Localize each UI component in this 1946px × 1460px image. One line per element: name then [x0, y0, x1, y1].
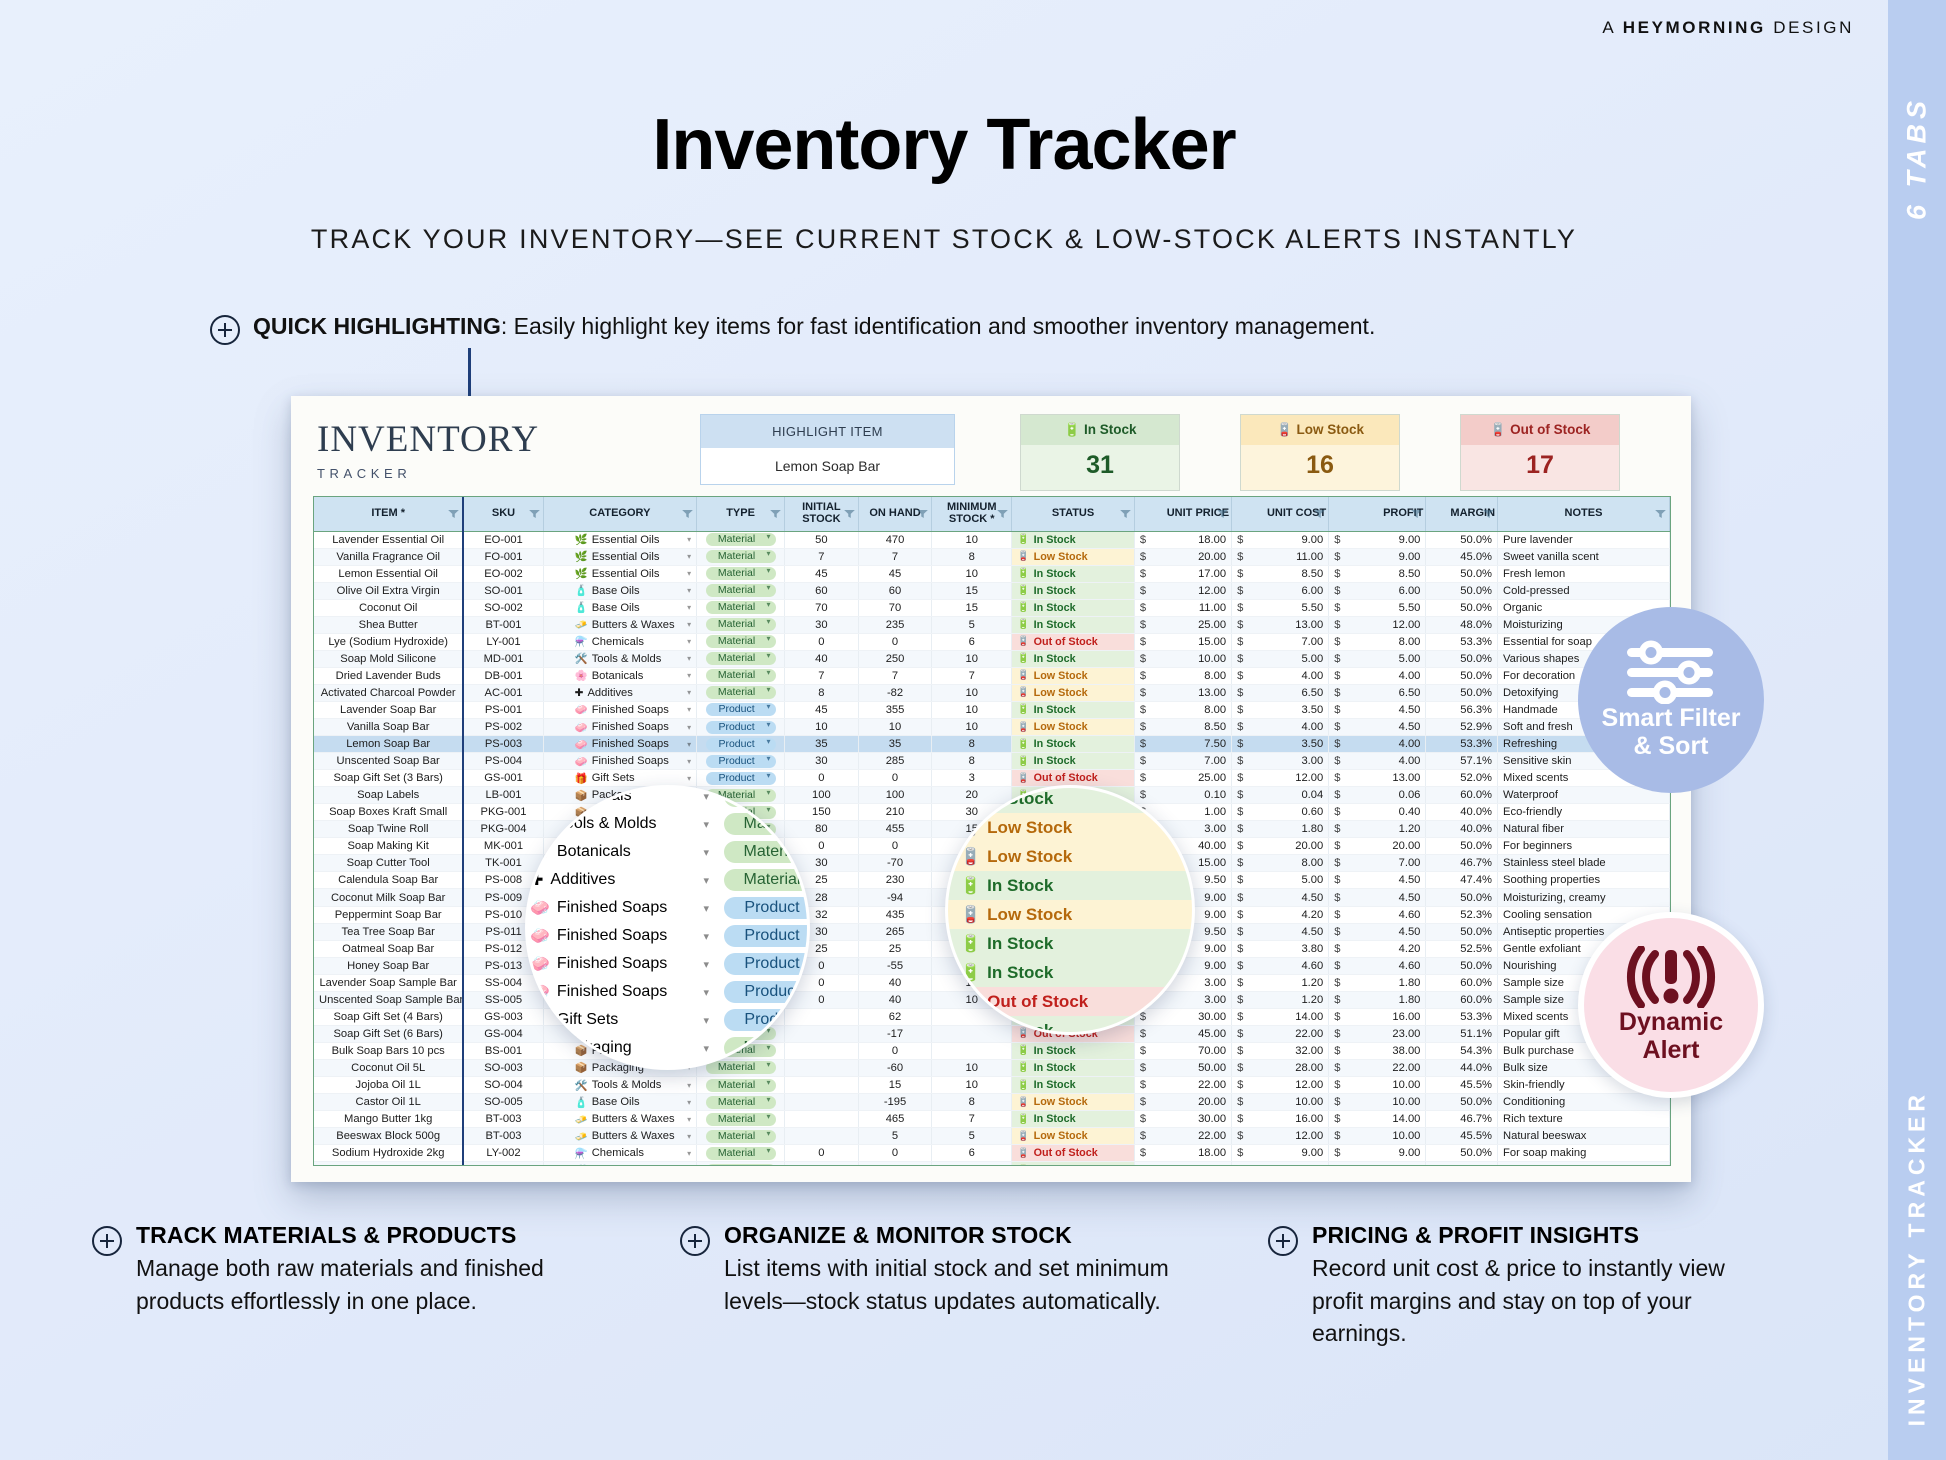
- cell-item[interactable]: Lavender Essential Oil: [314, 531, 463, 548]
- cell-on-hand[interactable]: 15: [858, 1077, 932, 1094]
- type-pill[interactable]: Material: [706, 601, 776, 614]
- cell-on-hand[interactable]: 40: [858, 974, 932, 991]
- cell-unit-cost[interactable]: $0.60: [1232, 804, 1329, 821]
- cell-category[interactable]: 🧼Finished Soaps▾: [543, 736, 696, 753]
- cell-margin[interactable]: 60.0%: [1426, 991, 1498, 1008]
- cell-unit-price[interactable]: $70.00: [1134, 1042, 1231, 1059]
- cell-initial-stock[interactable]: 0: [785, 633, 859, 650]
- cell-minimum-stock[interactable]: 6: [932, 633, 1012, 650]
- cell-type[interactable]: Material: [697, 548, 785, 565]
- type-pill[interactable]: Material: [706, 1147, 776, 1160]
- cell-unit-price[interactable]: $22.00: [1134, 1077, 1231, 1094]
- cell-margin[interactable]: 53.3%: [1426, 736, 1498, 753]
- cell-on-hand[interactable]: -94: [858, 889, 932, 906]
- cell-item[interactable]: Soap Gift Set (4 Bars): [314, 1008, 463, 1025]
- table-row[interactable]: Bulk Soap Bars 10 pcs BS-001 📦Packaging▾…: [314, 1042, 1670, 1059]
- cell-item[interactable]: Coconut Oil: [314, 599, 463, 616]
- cell-unit-cost[interactable]: $16.00: [1232, 1111, 1329, 1128]
- cell-margin[interactable]: 46.7%: [1426, 855, 1498, 872]
- table-row[interactable]: Jojoba Oil 1L SO-004 🛠️Tools & Molds▾ Ma…: [314, 1077, 1670, 1094]
- cell-profit[interactable]: $4.50: [1329, 923, 1426, 940]
- cell-margin[interactable]: 50.0%: [1426, 684, 1498, 701]
- cell-type[interactable]: Material: [697, 1162, 785, 1166]
- cell-on-hand[interactable]: 7: [858, 667, 932, 684]
- cell-type[interactable]: Material: [697, 1094, 785, 1111]
- chevron-down-icon[interactable]: ▾: [687, 688, 691, 697]
- cell-initial-stock[interactable]: 0: [785, 770, 859, 787]
- cell-initial-stock[interactable]: 30: [785, 616, 859, 633]
- cell-item[interactable]: Lavender Soap Sample Bar: [314, 974, 463, 991]
- cell-unit-cost[interactable]: $7.00: [1232, 633, 1329, 650]
- cell-notes[interactable]: Stainless steel blade: [1498, 855, 1670, 872]
- cell-item[interactable]: Lemon Essential Oil: [314, 565, 463, 582]
- col-header-profit[interactable]: PROFIT: [1329, 497, 1426, 531]
- cell-margin[interactable]: 50.0%: [1426, 1145, 1498, 1162]
- col-header-type[interactable]: TYPE: [697, 497, 785, 531]
- type-pill[interactable]: Material: [706, 1130, 776, 1143]
- type-pill[interactable]: Material: [706, 635, 776, 648]
- cell-type[interactable]: Material: [697, 531, 785, 548]
- cell-margin[interactable]: 50.0%: [1426, 599, 1498, 616]
- cell-on-hand[interactable]: 0: [858, 838, 932, 855]
- cell-profit[interactable]: $10.00: [1329, 1077, 1426, 1094]
- chevron-down-icon[interactable]: ▾: [687, 705, 691, 714]
- cell-unit-cost[interactable]: $6.50: [1232, 684, 1329, 701]
- cell-on-hand[interactable]: 25: [858, 940, 932, 957]
- type-pill[interactable]: Material: [706, 1096, 776, 1109]
- cell-profit[interactable]: $4.50: [1329, 701, 1426, 718]
- col-header-minimum-stock[interactable]: MINIMUM STOCK *: [932, 497, 1012, 531]
- table-row[interactable]: Dried Lavender Buds DB-001 🌸Botanicals▾ …: [314, 667, 1670, 684]
- cell-initial-stock[interactable]: 7: [785, 548, 859, 565]
- cell-item[interactable]: Unscented Soap Bar: [314, 753, 463, 770]
- cell-unit-price[interactable]: $30.00: [1134, 1111, 1231, 1128]
- cell-unit-cost[interactable]: $5.50: [1232, 599, 1329, 616]
- cell-minimum-stock[interactable]: 10: [932, 1162, 1012, 1166]
- cell-minimum-stock[interactable]: 10: [932, 719, 1012, 736]
- cell-category[interactable]: 🌸Botanicals▾: [543, 667, 696, 684]
- table-row[interactable]: Activated Charcoal Powder AC-001 ✚Additi…: [314, 684, 1670, 701]
- table-row[interactable]: Sodium Hydroxide 2kg LY-002 ⚗️Chemicals▾…: [314, 1145, 1670, 1162]
- cell-item[interactable]: Lavender Soap Bar: [314, 701, 463, 718]
- cell-sku[interactable]: EO-001: [463, 531, 543, 548]
- cell-profit[interactable]: $22.00: [1329, 1059, 1426, 1076]
- cell-margin[interactable]: 56.3%: [1426, 701, 1498, 718]
- cell-on-hand[interactable]: 62: [858, 1008, 932, 1025]
- col-header-margin[interactable]: MARGIN: [1426, 497, 1498, 531]
- col-header-initial-stock[interactable]: INITIAL STOCK: [785, 497, 859, 531]
- cell-sku[interactable]: PS-001: [463, 701, 543, 718]
- col-header-unit-price[interactable]: UNIT PRICE: [1134, 497, 1231, 531]
- cell-margin[interactable]: 40.0%: [1426, 804, 1498, 821]
- cell-margin[interactable]: 45.0%: [1426, 548, 1498, 565]
- cell-minimum-stock[interactable]: 7: [932, 1111, 1012, 1128]
- cell-type[interactable]: Material: [697, 1077, 785, 1094]
- cell-item[interactable]: Silicone Soap Mold Set: [314, 1162, 463, 1166]
- cell-profit[interactable]: $13.00: [1329, 770, 1426, 787]
- cell-type[interactable]: Material: [697, 684, 785, 701]
- cell-type[interactable]: Material: [697, 582, 785, 599]
- table-row[interactable]: Soap Mold Silicone MD-001 🛠️Tools & Mold…: [314, 650, 1670, 667]
- cell-profit[interactable]: $9.00: [1329, 1145, 1426, 1162]
- type-pill[interactable]: Material: [706, 669, 776, 682]
- cell-unit-cost[interactable]: $6.00: [1232, 582, 1329, 599]
- chevron-down-icon[interactable]: ▾: [687, 1081, 691, 1090]
- cell-item[interactable]: Soap Gift Set (3 Bars): [314, 770, 463, 787]
- cell-sku[interactable]: PS-003: [463, 736, 543, 753]
- chevron-down-icon[interactable]: ▾: [687, 723, 691, 732]
- cell-category[interactable]: 🧼Finished Soaps▾: [543, 719, 696, 736]
- cell-profit[interactable]: $20.00: [1329, 838, 1426, 855]
- cell-category[interactable]: 🧴Base Oils▾: [543, 582, 696, 599]
- cell-initial-stock[interactable]: [785, 1094, 859, 1111]
- cell-margin[interactable]: 60.0%: [1426, 974, 1498, 991]
- cell-profit[interactable]: $1.80: [1329, 991, 1426, 1008]
- cell-on-hand[interactable]: 0: [858, 633, 932, 650]
- cell-profit[interactable]: $0.06: [1329, 787, 1426, 804]
- cell-margin[interactable]: 50.0%: [1426, 889, 1498, 906]
- table-row[interactable]: Shea Butter BT-001 🧈Butters & Waxes▾ Mat…: [314, 616, 1670, 633]
- cell-sku[interactable]: MD-002: [463, 1162, 543, 1166]
- type-pill[interactable]: Product: [706, 755, 776, 768]
- cell-type[interactable]: Material: [697, 1145, 785, 1162]
- cell-category[interactable]: 🌿Essential Oils▾: [543, 548, 696, 565]
- cell-margin[interactable]: 46.7%: [1426, 1111, 1498, 1128]
- type-pill[interactable]: Material: [706, 652, 776, 665]
- table-row[interactable]: Unscented Soap Bar PS-004 🧼Finished Soap…: [314, 753, 1670, 770]
- cell-type[interactable]: Material: [697, 650, 785, 667]
- table-row[interactable]: Vanilla Fragrance Oil FO-001 🌿Essential …: [314, 548, 1670, 565]
- cell-type[interactable]: Product: [697, 770, 785, 787]
- cell-unit-cost[interactable]: $4.20: [1232, 906, 1329, 923]
- chevron-down-icon[interactable]: ▾: [687, 620, 691, 629]
- chevron-down-icon[interactable]: ▾: [687, 774, 691, 783]
- cell-unit-cost[interactable]: $10.00: [1232, 1094, 1329, 1111]
- cell-margin[interactable]: 40.0%: [1426, 821, 1498, 838]
- cell-item[interactable]: Vanilla Soap Bar: [314, 719, 463, 736]
- cell-category[interactable]: 🧼Finished Soaps▾: [543, 753, 696, 770]
- cell-unit-price[interactable]: $15.00: [1134, 1162, 1231, 1166]
- cell-margin[interactable]: 52.3%: [1426, 906, 1498, 923]
- cell-margin[interactable]: 52.0%: [1426, 770, 1498, 787]
- cell-unit-price[interactable]: $8.00: [1134, 701, 1231, 718]
- cell-category[interactable]: 🧈Butters & Waxes▾: [543, 616, 696, 633]
- col-header-item[interactable]: ITEM *: [314, 497, 463, 531]
- cell-unit-cost[interactable]: $20.00: [1232, 838, 1329, 855]
- cell-initial-stock[interactable]: 45: [785, 701, 859, 718]
- cell-category[interactable]: 🌿Essential Oils▾: [543, 531, 696, 548]
- cell-margin[interactable]: 52.9%: [1426, 719, 1498, 736]
- cell-unit-cost[interactable]: $8.00: [1232, 855, 1329, 872]
- cell-on-hand[interactable]: 210: [858, 804, 932, 821]
- cell-profit[interactable]: $0.40: [1329, 804, 1426, 821]
- cell-type[interactable]: Material: [697, 616, 785, 633]
- cell-minimum-stock[interactable]: 10: [932, 650, 1012, 667]
- cell-minimum-stock[interactable]: 10: [932, 565, 1012, 582]
- cell-on-hand[interactable]: 10: [858, 719, 932, 736]
- cell-category[interactable]: 🌿Essential Oils▾: [543, 565, 696, 582]
- cell-minimum-stock[interactable]: 8: [932, 753, 1012, 770]
- cell-profit[interactable]: $4.50: [1329, 719, 1426, 736]
- table-row[interactable]: Mango Butter 1kg BT-003 🧈Butters & Waxes…: [314, 1111, 1670, 1128]
- cell-unit-price[interactable]: $18.00: [1134, 531, 1231, 548]
- cell-minimum-stock[interactable]: 6: [932, 1145, 1012, 1162]
- cell-profit[interactable]: $14.00: [1329, 1111, 1426, 1128]
- chevron-down-icon[interactable]: ▾: [687, 671, 691, 680]
- cell-minimum-stock[interactable]: 8: [932, 548, 1012, 565]
- cell-minimum-stock[interactable]: 3: [932, 770, 1012, 787]
- type-pill[interactable]: Product: [706, 772, 776, 785]
- cell-sku[interactable]: SO-002: [463, 599, 543, 616]
- cell-unit-cost[interactable]: $11.00: [1232, 548, 1329, 565]
- cell-unit-cost[interactable]: $4.00: [1232, 667, 1329, 684]
- cell-initial-stock[interactable]: [785, 1128, 859, 1145]
- table-row[interactable]: Beeswax Block 500g BT-003 🧈Butters & Wax…: [314, 1128, 1670, 1145]
- cell-profit[interactable]: $4.60: [1329, 957, 1426, 974]
- cell-item[interactable]: Mango Butter 1kg: [314, 1111, 463, 1128]
- cell-type[interactable]: Material: [697, 633, 785, 650]
- cell-margin[interactable]: 50.0%: [1426, 838, 1498, 855]
- cell-item[interactable]: Soap Making Kit: [314, 838, 463, 855]
- cell-item[interactable]: Shea Butter: [314, 616, 463, 633]
- table-row[interactable]: Lye (Sodium Hydroxide) LY-001 ⚗️Chemical…: [314, 633, 1670, 650]
- table-row[interactable]: Vanilla Soap Bar PS-002 🧼Finished Soaps▾…: [314, 719, 1670, 736]
- cell-notes[interactable]: Rich texture: [1498, 1111, 1670, 1128]
- cell-unit-cost[interactable]: $3.00: [1232, 753, 1329, 770]
- type-pill[interactable]: Material: [706, 618, 776, 631]
- cell-unit-cost[interactable]: $9.00: [1232, 1145, 1329, 1162]
- cell-minimum-stock[interactable]: 10: [932, 684, 1012, 701]
- cell-profit[interactable]: $4.50: [1329, 872, 1426, 889]
- cell-on-hand[interactable]: 265: [858, 923, 932, 940]
- cell-unit-price[interactable]: $25.00: [1134, 770, 1231, 787]
- cell-type[interactable]: Material: [697, 1111, 785, 1128]
- cell-item[interactable]: Lemon Soap Bar: [314, 736, 463, 753]
- highlight-item-box[interactable]: HIGHLIGHT ITEM Lemon Soap Bar: [700, 414, 955, 485]
- cell-on-hand[interactable]: 285: [858, 753, 932, 770]
- cell-margin[interactable]: 51.1%: [1426, 1025, 1498, 1042]
- cell-margin[interactable]: 48.0%: [1426, 616, 1498, 633]
- chevron-down-icon[interactable]: ▾: [687, 637, 691, 646]
- chevron-down-icon[interactable]: ▾: [687, 569, 691, 578]
- cell-on-hand[interactable]: 20: [858, 1162, 932, 1166]
- cell-notes[interactable]: Eco-friendly: [1498, 804, 1670, 821]
- cell-item[interactable]: Coconut Oil 5L: [314, 1059, 463, 1076]
- cell-sku[interactable]: MD-001: [463, 650, 543, 667]
- cell-notes[interactable]: Soothing properties: [1498, 872, 1670, 889]
- cell-unit-price[interactable]: $22.00: [1134, 1128, 1231, 1145]
- cell-category[interactable]: ⚗️Chemicals▾: [543, 633, 696, 650]
- cell-item[interactable]: Dried Lavender Buds: [314, 667, 463, 684]
- col-header-notes[interactable]: NOTES: [1498, 497, 1670, 531]
- cell-unit-cost[interactable]: $14.00: [1232, 1008, 1329, 1025]
- cell-unit-cost[interactable]: $3.50: [1232, 701, 1329, 718]
- cell-profit[interactable]: $4.20: [1329, 940, 1426, 957]
- cell-item[interactable]: Activated Charcoal Powder: [314, 684, 463, 701]
- cell-category[interactable]: 🛠️Tools & Molds▾: [543, 1162, 696, 1166]
- cell-on-hand[interactable]: 470: [858, 531, 932, 548]
- cell-sku[interactable]: LY-002: [463, 1145, 543, 1162]
- cell-minimum-stock[interactable]: 10: [932, 531, 1012, 548]
- cell-unit-cost[interactable]: $0.04: [1232, 787, 1329, 804]
- cell-sku[interactable]: BT-001: [463, 616, 543, 633]
- type-pill[interactable]: Material: [706, 686, 776, 699]
- chevron-down-icon[interactable]: ▾: [687, 740, 691, 749]
- cell-notes[interactable]: Waterproof: [1498, 787, 1670, 804]
- cell-initial-stock[interactable]: 50: [785, 531, 859, 548]
- cell-unit-cost[interactable]: $3.50: [1232, 736, 1329, 753]
- cell-unit-cost[interactable]: $28.00: [1232, 1059, 1329, 1076]
- cell-unit-cost[interactable]: $22.00: [1232, 1025, 1329, 1042]
- cell-notes[interactable]: For soap making: [1498, 1145, 1670, 1162]
- cell-item[interactable]: Coconut Milk Soap Bar: [314, 889, 463, 906]
- cell-profit[interactable]: $12.00: [1329, 616, 1426, 633]
- cell-profit[interactable]: $7.00: [1329, 855, 1426, 872]
- cell-unit-cost[interactable]: $1.20: [1232, 991, 1329, 1008]
- cell-item[interactable]: Jojoba Oil 1L: [314, 1077, 463, 1094]
- type-pill[interactable]: Material: [706, 533, 776, 546]
- table-row[interactable]: Coconut Oil 5L SO-003 📦Packaging▾ Materi…: [314, 1059, 1670, 1076]
- cell-sku[interactable]: LY-001: [463, 633, 543, 650]
- cell-unit-cost[interactable]: $12.00: [1232, 1077, 1329, 1094]
- cell-on-hand[interactable]: 0: [858, 770, 932, 787]
- cell-item[interactable]: Lye (Sodium Hydroxide): [314, 633, 463, 650]
- cell-on-hand[interactable]: 100: [858, 787, 932, 804]
- cell-notes[interactable]: Fresh lemon: [1498, 565, 1670, 582]
- cell-on-hand[interactable]: 0: [858, 1145, 932, 1162]
- cell-item[interactable]: Soap Mold Silicone: [314, 650, 463, 667]
- cell-on-hand[interactable]: 40: [858, 991, 932, 1008]
- cell-minimum-stock[interactable]: 8: [932, 1094, 1012, 1111]
- cell-type[interactable]: Product: [697, 719, 785, 736]
- cell-profit[interactable]: $10.00: [1329, 1128, 1426, 1145]
- chevron-down-icon[interactable]: ▾: [687, 1149, 691, 1158]
- cell-margin[interactable]: 45.5%: [1426, 1128, 1498, 1145]
- cell-on-hand[interactable]: 250: [858, 650, 932, 667]
- cell-unit-cost[interactable]: $4.50: [1232, 889, 1329, 906]
- cell-initial-stock[interactable]: 0: [785, 1162, 859, 1166]
- chevron-down-icon[interactable]: ▾: [687, 552, 691, 561]
- cell-on-hand[interactable]: 70: [858, 599, 932, 616]
- cell-profit[interactable]: $38.00: [1329, 1042, 1426, 1059]
- table-row[interactable]: Lemon Soap Bar PS-003 🧼Finished Soaps▾ P…: [314, 736, 1670, 753]
- cell-margin[interactable]: 50.0%: [1426, 667, 1498, 684]
- cell-unit-price[interactable]: $20.00: [1134, 548, 1231, 565]
- cell-profit[interactable]: $4.00: [1329, 667, 1426, 684]
- cell-on-hand[interactable]: 5: [858, 1128, 932, 1145]
- cell-profit[interactable]: $7.00: [1329, 1162, 1426, 1166]
- cell-unit-price[interactable]: $17.00: [1134, 565, 1231, 582]
- cell-margin[interactable]: 50.0%: [1426, 923, 1498, 940]
- cell-unit-cost[interactable]: $12.00: [1232, 770, 1329, 787]
- cell-unit-cost[interactable]: $5.00: [1232, 872, 1329, 889]
- cell-margin[interactable]: 45.5%: [1426, 1077, 1498, 1094]
- cell-margin[interactable]: 50.0%: [1426, 957, 1498, 974]
- col-header-category[interactable]: CATEGORY: [543, 497, 696, 531]
- cell-notes[interactable]: Natural fiber: [1498, 821, 1670, 838]
- cell-initial-stock[interactable]: [785, 1077, 859, 1094]
- cell-on-hand[interactable]: 45: [858, 565, 932, 582]
- cell-on-hand[interactable]: 0: [858, 1042, 932, 1059]
- cell-unit-price[interactable]: $12.00: [1134, 582, 1231, 599]
- cell-category[interactable]: 🧼Finished Soaps▾: [543, 701, 696, 718]
- cell-profit[interactable]: $6.00: [1329, 582, 1426, 599]
- cell-margin[interactable]: 54.3%: [1426, 1042, 1498, 1059]
- cell-initial-stock[interactable]: 40: [785, 650, 859, 667]
- cell-unit-cost[interactable]: $1.20: [1232, 974, 1329, 991]
- cell-unit-price[interactable]: $50.00: [1134, 1059, 1231, 1076]
- cell-margin[interactable]: 60.0%: [1426, 787, 1498, 804]
- cell-initial-stock[interactable]: 7: [785, 667, 859, 684]
- cell-unit-cost[interactable]: $3.80: [1232, 940, 1329, 957]
- cell-profit[interactable]: $9.00: [1329, 548, 1426, 565]
- cell-profit[interactable]: $16.00: [1329, 1008, 1426, 1025]
- cell-margin[interactable]: 44.0%: [1426, 1059, 1498, 1076]
- cell-unit-cost[interactable]: $5.00: [1232, 650, 1329, 667]
- type-pill[interactable]: Product: [706, 721, 776, 734]
- cell-sku[interactable]: PS-002: [463, 719, 543, 736]
- cell-minimum-stock[interactable]: 5: [932, 1128, 1012, 1145]
- cell-on-hand[interactable]: 435: [858, 906, 932, 923]
- cell-profit[interactable]: $8.50: [1329, 565, 1426, 582]
- cell-category[interactable]: ✚Additives▾: [543, 684, 696, 701]
- cell-margin[interactable]: 52.5%: [1426, 940, 1498, 957]
- cell-margin[interactable]: 46.7%: [1426, 1162, 1498, 1166]
- type-pill[interactable]: Material: [706, 567, 776, 580]
- cell-sku[interactable]: FO-001: [463, 548, 543, 565]
- cell-sku[interactable]: DB-001: [463, 667, 543, 684]
- cell-category[interactable]: 🧈Butters & Waxes▾: [543, 1111, 696, 1128]
- cell-minimum-stock[interactable]: 10: [932, 1059, 1012, 1076]
- cell-margin[interactable]: 50.0%: [1426, 531, 1498, 548]
- cell-unit-cost[interactable]: $4.60: [1232, 957, 1329, 974]
- chevron-down-icon[interactable]: ▾: [687, 757, 691, 766]
- cell-on-hand[interactable]: 455: [858, 821, 932, 838]
- cell-on-hand[interactable]: -55: [858, 957, 932, 974]
- cell-profit[interactable]: $5.50: [1329, 599, 1426, 616]
- cell-sku[interactable]: EO-002: [463, 565, 543, 582]
- type-pill[interactable]: Material: [706, 1113, 776, 1126]
- cell-notes[interactable]: Multiple shapes: [1498, 1162, 1670, 1166]
- cell-sku[interactable]: AC-001: [463, 684, 543, 701]
- cell-profit[interactable]: $1.20: [1329, 821, 1426, 838]
- cell-initial-stock[interactable]: 35: [785, 736, 859, 753]
- cell-category[interactable]: 🧴Base Oils▾: [543, 599, 696, 616]
- cell-initial-stock[interactable]: 45: [785, 565, 859, 582]
- table-row[interactable]: Soap Gift Set (3 Bars) GS-001 🎁Gift Sets…: [314, 770, 1670, 787]
- cell-margin[interactable]: 50.0%: [1426, 582, 1498, 599]
- cell-sku[interactable]: SO-004: [463, 1077, 543, 1094]
- cell-type[interactable]: Material: [697, 599, 785, 616]
- cell-item[interactable]: Soap Twine Roll: [314, 821, 463, 838]
- cell-item[interactable]: Sodium Hydroxide 2kg: [314, 1145, 463, 1162]
- cell-on-hand[interactable]: -82: [858, 684, 932, 701]
- cell-notes[interactable]: Conditioning: [1498, 1094, 1670, 1111]
- cell-margin[interactable]: 50.0%: [1426, 565, 1498, 582]
- cell-type[interactable]: Product: [697, 736, 785, 753]
- cell-item[interactable]: Olive Oil Extra Virgin: [314, 582, 463, 599]
- cell-unit-price[interactable]: $8.00: [1134, 667, 1231, 684]
- type-pill[interactable]: Product: [706, 703, 776, 716]
- cell-minimum-stock[interactable]: [932, 1042, 1012, 1059]
- cell-sku[interactable]: SO-001: [463, 582, 543, 599]
- cell-type[interactable]: Product: [697, 753, 785, 770]
- cell-profit[interactable]: $4.60: [1329, 906, 1426, 923]
- cell-item[interactable]: Peppermint Soap Bar: [314, 906, 463, 923]
- cell-on-hand[interactable]: 235: [858, 616, 932, 633]
- cell-sku[interactable]: PS-004: [463, 753, 543, 770]
- cell-item[interactable]: Honey Soap Bar: [314, 957, 463, 974]
